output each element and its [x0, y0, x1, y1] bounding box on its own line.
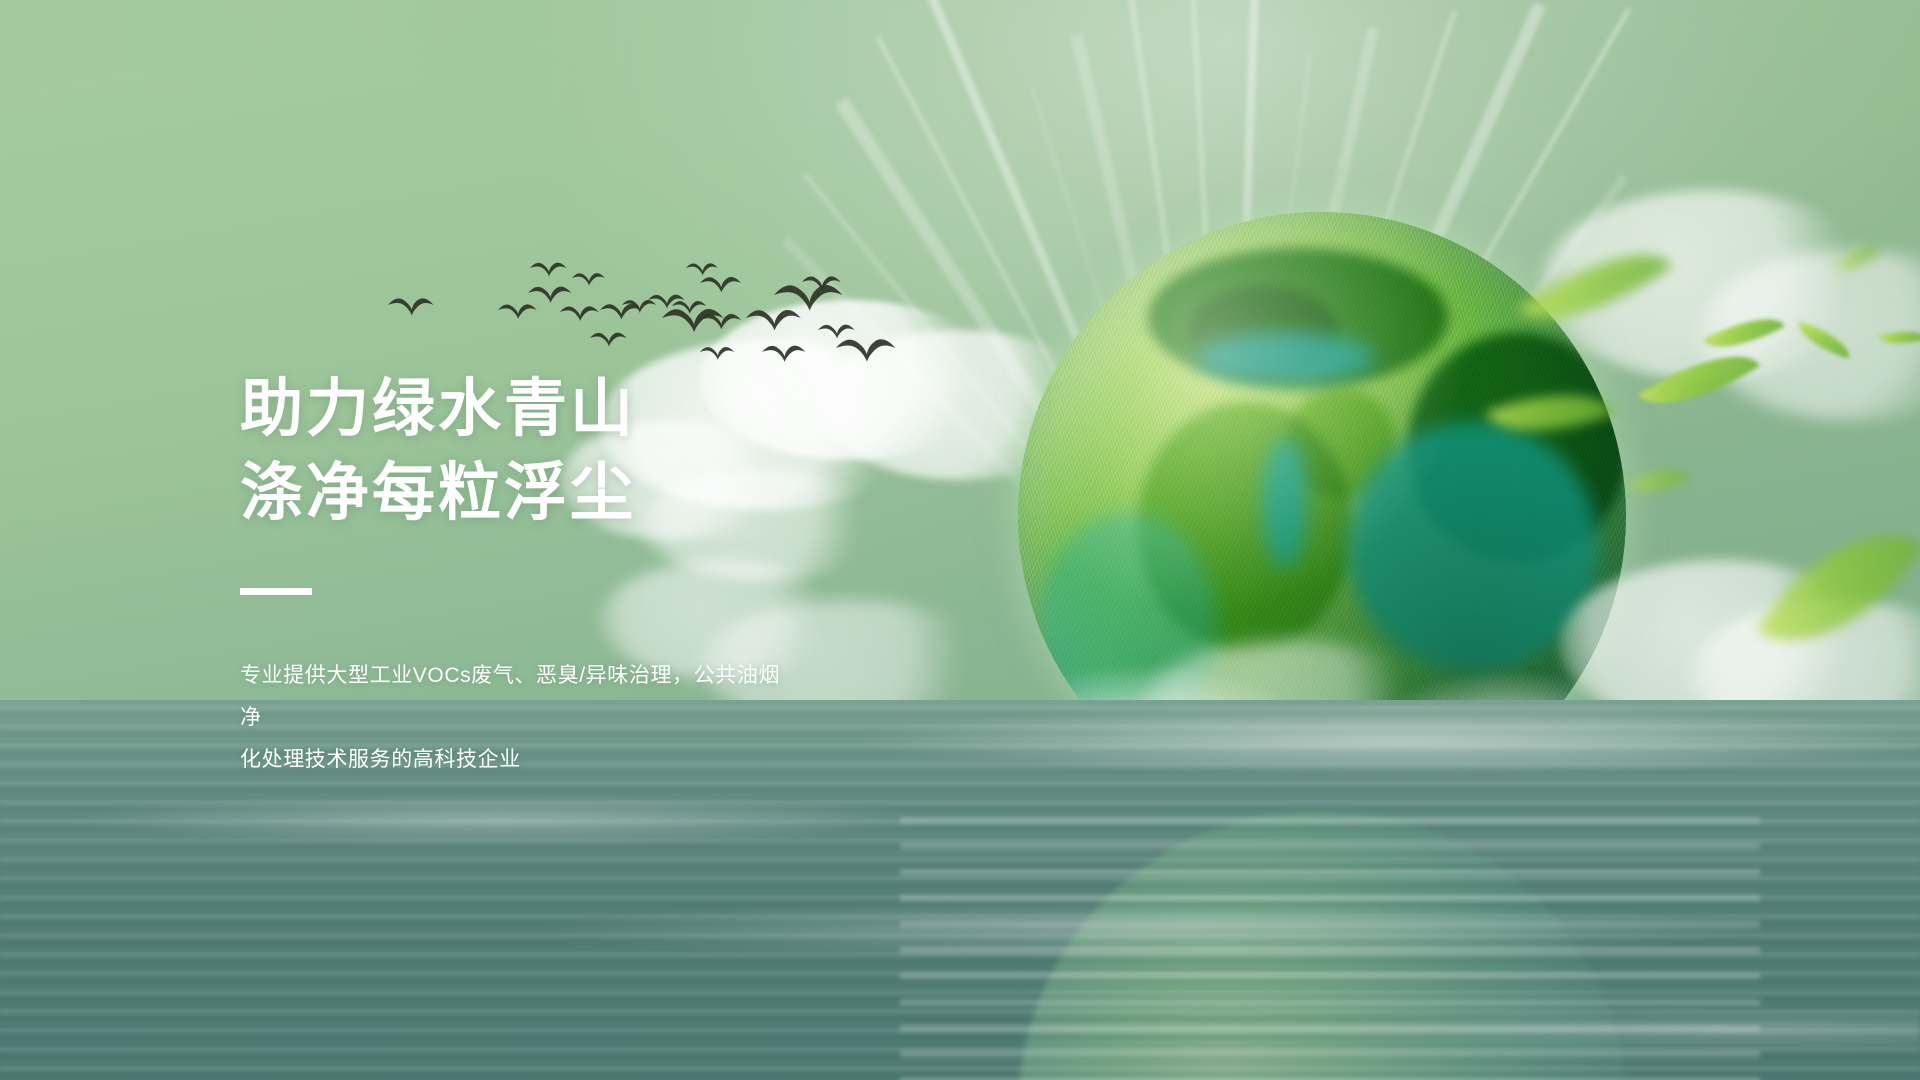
description-line-1: 专业提供大型工业VOCs废气、恶臭/异味治理，公共油烟净	[240, 655, 800, 739]
description-line-2: 化处理技术服务的高科技企业	[240, 739, 800, 781]
headline-line-2: 涤净每粒浮尘	[240, 452, 960, 536]
title-divider	[240, 588, 312, 595]
hero-description: 专业提供大型工业VOCs废气、恶臭/异味治理，公共油烟净 化处理技术服务的高科技…	[240, 655, 800, 781]
headline-line-1: 助力绿水青山	[240, 368, 960, 452]
hero-banner: 助力绿水青山 涤净每粒浮尘 专业提供大型工业VOCs废气、恶臭/异味治理，公共油…	[0, 0, 1920, 1080]
page-title: 助力绿水青山 涤净每粒浮尘	[240, 368, 960, 536]
hero-copy: 助力绿水青山 涤净每粒浮尘 专业提供大型工业VOCs废气、恶臭/异味治理，公共油…	[240, 368, 960, 802]
